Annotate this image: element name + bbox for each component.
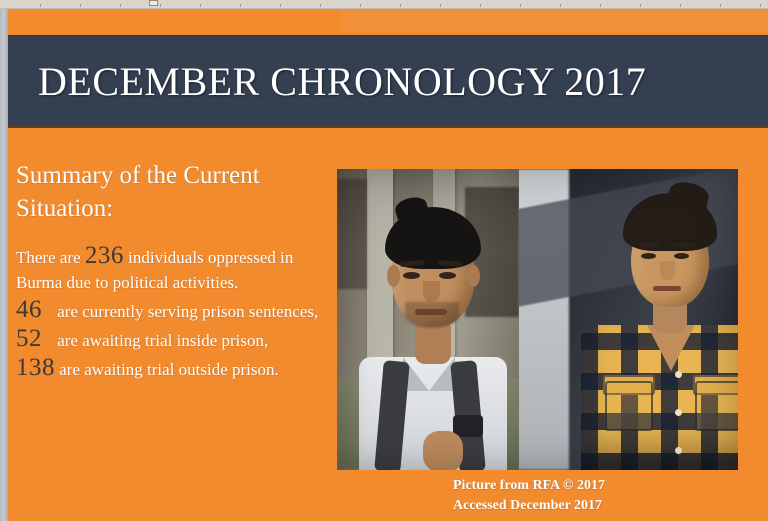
stat-row-trial-inside: 52 are awaiting trial inside prison, — [16, 326, 334, 354]
slide-title-band[interactable]: DECEMBER CHRONOLOGY 2017 — [8, 35, 768, 128]
left-scroll-rail[interactable] — [0, 9, 8, 521]
intro-before-text: There are — [16, 248, 81, 267]
stat-text-138: are awaiting trial outside prison. — [59, 360, 279, 379]
stat-number-138: 138 — [16, 354, 55, 381]
caption-line-accessed: Accessed December 2017 — [453, 496, 605, 516]
document-canvas: DECEMBER CHRONOLOGY 2017 Summary of the … — [0, 0, 768, 521]
selection-highlight — [341, 9, 768, 31]
caption-line-source: Picture from RFA © 2017 — [453, 476, 605, 496]
stat-row-trial-outside: 138 are awaiting trial outside prison. — [16, 355, 334, 383]
slide-surface: DECEMBER CHRONOLOGY 2017 Summary of the … — [8, 9, 768, 521]
ruler-tick-marks — [0, 4, 768, 7]
summary-column: Summary of the Current Situation: There … — [16, 159, 334, 384]
photo-right-subject — [519, 169, 738, 470]
stat-number-52: 52 — [16, 325, 42, 352]
stat-text-46: are currently serving prison sentences, — [57, 302, 318, 321]
summary-intro: There are 236 individuals oppressed in B… — [16, 243, 334, 296]
stat-text-52: are awaiting trial inside prison, — [57, 331, 268, 350]
horizontal-ruler[interactable] — [0, 0, 768, 9]
stat-number-46: 46 — [16, 296, 42, 323]
intro-count-236: 236 — [85, 242, 124, 269]
stat-row-serving-sentences: 46 are currently serving prison sentence… — [16, 297, 334, 325]
photo-left-subject — [337, 169, 519, 470]
indent-marker[interactable] — [149, 0, 158, 6]
page-title: DECEMBER CHRONOLOGY 2017 — [8, 58, 646, 105]
photo-two-men[interactable] — [337, 169, 738, 470]
summary-heading: Summary of the Current Situation: — [16, 159, 334, 225]
photo-caption: Picture from RFA © 2017 Accessed Decembe… — [453, 476, 605, 517]
